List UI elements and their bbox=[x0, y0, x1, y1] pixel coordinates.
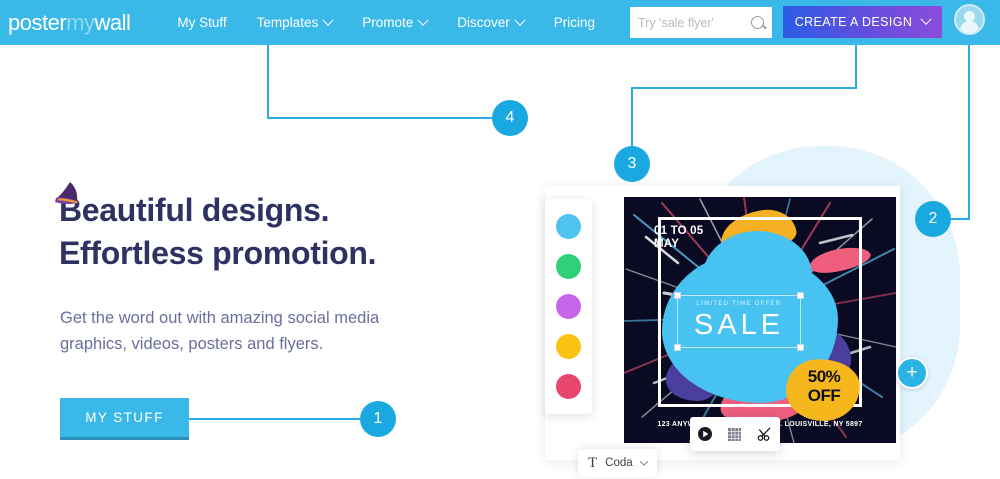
logo-part-my: my bbox=[66, 10, 94, 35]
connector-line-4-vertical bbox=[267, 45, 269, 118]
nav-label: Promote bbox=[362, 15, 413, 30]
plus-icon: + bbox=[906, 362, 917, 384]
swatch-green[interactable] bbox=[556, 254, 581, 279]
nav-item-templates[interactable]: Templates bbox=[242, 15, 348, 30]
hero-subtext: Get the word out with amazing social med… bbox=[60, 305, 450, 357]
text-tool-icon: T bbox=[588, 455, 597, 472]
create-button-label: CREATE A DESIGN bbox=[795, 15, 913, 29]
connector-line-3-vertical-b bbox=[631, 87, 633, 151]
nav-item-promote[interactable]: Promote bbox=[347, 15, 442, 30]
poster-date-line-1: 01 TO 05 bbox=[654, 225, 703, 238]
my-stuff-label: MY STUFF bbox=[85, 410, 163, 425]
search-box[interactable] bbox=[630, 7, 772, 38]
witch-hat-icon bbox=[50, 181, 86, 207]
nav-label: My Stuff bbox=[177, 15, 226, 30]
chevron-down-icon bbox=[418, 14, 429, 25]
connector-line-3-vertical-a bbox=[855, 45, 857, 89]
resize-handle-tl[interactable] bbox=[674, 292, 681, 299]
logo-part-wall: wall bbox=[94, 10, 130, 35]
nav-label: Pricing bbox=[554, 15, 595, 30]
avatar[interactable] bbox=[954, 4, 985, 35]
create-a-design-button[interactable]: CREATE A DESIGN bbox=[783, 6, 942, 38]
play-icon[interactable] bbox=[697, 426, 713, 442]
connector-line-3-horizontal bbox=[631, 87, 857, 89]
resize-handle-bl[interactable] bbox=[674, 344, 681, 351]
connector-line-2-vertical bbox=[968, 45, 970, 220]
step-marker-4[interactable]: 4 bbox=[492, 100, 528, 136]
chevron-down-icon bbox=[921, 14, 932, 25]
poster-date-line-2: MAY bbox=[654, 238, 703, 251]
hero-heading-line-1: Beautiful designs. bbox=[59, 189, 376, 232]
nav-item-discover[interactable]: Discover bbox=[442, 15, 539, 30]
poster-discount-text: 50% OFF bbox=[792, 367, 856, 405]
logo-part-poster: poster bbox=[8, 10, 66, 35]
poster-mini-toolbar bbox=[690, 417, 780, 451]
nav-item-my-stuff[interactable]: My Stuff bbox=[162, 15, 241, 30]
marker-number: 3 bbox=[628, 155, 637, 173]
discount-line-2: OFF bbox=[792, 386, 856, 405]
font-name-label: Coda bbox=[605, 457, 633, 469]
marker-number: 2 bbox=[929, 210, 938, 228]
connector-line-1-horizontal bbox=[188, 418, 368, 420]
resize-handle-tr[interactable] bbox=[797, 292, 804, 299]
step-marker-3[interactable]: 3 bbox=[614, 146, 650, 182]
poster-date: 01 TO 05 MAY bbox=[654, 225, 703, 251]
my-stuff-button[interactable]: MY STUFF bbox=[60, 398, 189, 440]
marker-number: 4 bbox=[506, 109, 515, 127]
search-icon[interactable] bbox=[751, 16, 764, 29]
swatch-pink[interactable] bbox=[556, 374, 581, 399]
chevron-down-icon bbox=[323, 14, 334, 25]
chevron-down-icon bbox=[514, 14, 525, 25]
nav-label: Templates bbox=[257, 15, 319, 30]
logo[interactable]: postermywall bbox=[8, 10, 130, 36]
connector-line-4-horizontal bbox=[267, 117, 496, 119]
marker-number: 1 bbox=[374, 410, 383, 428]
main-nav: My Stuff Templates Promote Discover Pric… bbox=[162, 15, 610, 30]
top-header: postermywall My Stuff Templates Promote … bbox=[0, 0, 1000, 45]
swatch-yellow[interactable] bbox=[556, 334, 581, 359]
avatar-body-icon bbox=[960, 21, 979, 33]
grid-icon[interactable] bbox=[727, 427, 742, 442]
scissors-icon[interactable] bbox=[757, 426, 773, 442]
hero-heading-line-2: Effortless promotion. bbox=[59, 232, 376, 275]
color-swatch-panel bbox=[545, 199, 592, 414]
search-input[interactable] bbox=[638, 16, 746, 30]
page-title: Beautiful designs. Effortless promotion. bbox=[59, 189, 376, 275]
chevron-down-icon bbox=[639, 457, 647, 465]
step-marker-2[interactable]: 2 bbox=[915, 201, 951, 237]
discount-line-1: 50% bbox=[792, 367, 856, 386]
swatch-cyan[interactable] bbox=[556, 214, 581, 239]
add-element-button[interactable]: + bbox=[896, 357, 928, 389]
text-selection-box[interactable] bbox=[677, 295, 801, 348]
step-marker-1[interactable]: 1 bbox=[360, 401, 396, 437]
nav-item-pricing[interactable]: Pricing bbox=[539, 15, 610, 30]
swatch-purple[interactable] bbox=[556, 294, 581, 319]
font-picker[interactable]: T Coda bbox=[578, 449, 657, 477]
nav-label: Discover bbox=[457, 15, 510, 30]
resize-handle-br[interactable] bbox=[797, 344, 804, 351]
poster-canvas[interactable]: 01 TO 05 MAY 50% OFF LIMITED TIME OFFER … bbox=[624, 197, 896, 443]
